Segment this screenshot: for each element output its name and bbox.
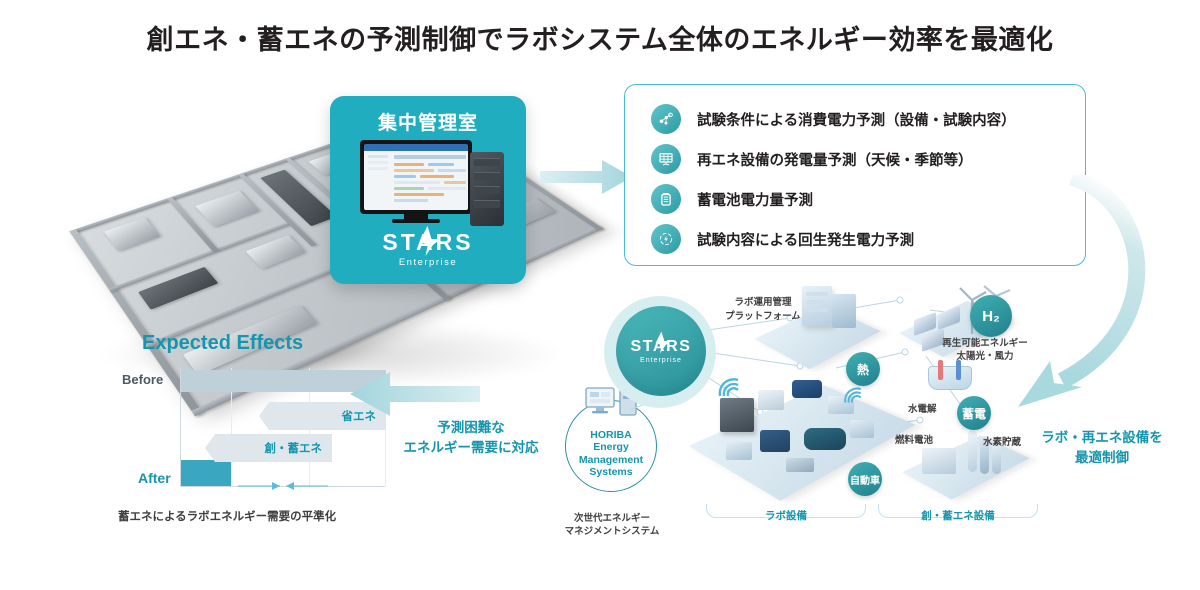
water-electrolysis-label: 水電解 — [908, 403, 937, 416]
prediction-item-label: 試験内容による回生発生電力予測 — [697, 229, 914, 250]
electrolysis-tank — [928, 366, 972, 390]
energy-equipment-bracket-label: 創・蓄エネ設備 — [878, 508, 1038, 523]
vehicle-pill: 自動車 — [848, 462, 882, 496]
vehicle — [804, 428, 846, 450]
hydrogen-pill: H₂ — [970, 295, 1012, 337]
chart-range-arrow-icon — [238, 480, 328, 492]
ems-line-2: Energy — [566, 441, 656, 453]
stars-hub-circle: STARS Enterprise — [616, 306, 706, 396]
chart-label-before: Before — [122, 372, 163, 387]
lab-equipment-bracket-label: ラボ設備 — [706, 508, 866, 523]
lab-rack — [720, 398, 754, 432]
office-window-row — [806, 308, 828, 312]
page-title: 創エネ・蓄エネの予測制御でラボシステム全体のエネルギー効率を最適化 — [0, 18, 1200, 57]
regeneration-icon — [651, 224, 681, 254]
prediction-item-label: 試験条件による消費電力予測（設備・試験内容） — [697, 109, 1016, 130]
hub-logo-sub: Enterprise — [616, 357, 706, 364]
monitor-base — [392, 219, 440, 223]
ems-line-4: Systems — [566, 466, 656, 478]
storage-pill: 蓄電 — [957, 396, 991, 430]
test-rig — [760, 430, 790, 452]
prediction-item-power-consumption: 試験条件による消費電力予測（設備・試験内容） — [651, 99, 1085, 139]
diagram-canvas: 創エネ・蓄エネの予測制御でラボシステム全体のエネルギー効率を最適化 — [0, 0, 1200, 590]
mid-callout-text: 予測困難な エネルギー需要に対応 — [378, 418, 564, 457]
lab-bench — [786, 458, 814, 472]
heat-pill: 熱 — [846, 352, 880, 386]
chart-bar-after — [181, 460, 231, 486]
chart-callout-generation-storage: 創・蓄エネ — [205, 434, 332, 462]
mid-callout-line2: エネルギー需要に対応 — [378, 438, 564, 458]
hydrogen-tank — [968, 430, 977, 472]
lab-bench — [850, 420, 874, 438]
expected-effects-caption: 蓄エネによるラボエネルギー需要の平準化 — [118, 508, 418, 524]
mid-callout-line1: 予測困難な — [378, 418, 564, 438]
expected-effects-title: Expected Effects — [142, 332, 303, 355]
ems-line-3: Management — [566, 454, 656, 466]
stars-logo-sub: Enterprise — [330, 257, 526, 268]
dyno-machine — [792, 380, 822, 398]
office-window-row — [806, 292, 828, 296]
arrow-right-icon — [540, 160, 632, 194]
arrow-left-icon — [350, 372, 480, 416]
network-nodes-icon — [651, 104, 681, 134]
monitor-screen — [364, 144, 468, 210]
lab-bench — [726, 442, 752, 460]
control-room-title: 集中管理室 — [330, 108, 526, 135]
server-tower-icon — [470, 152, 504, 226]
prediction-item-renewable-generation: 再エネ設備の発電量予測（天候・季節等） — [651, 139, 1085, 179]
monitor-icon — [360, 140, 472, 214]
hydrogen-storage-label: 水素貯蔵 — [983, 436, 1021, 449]
lab-bench — [758, 390, 784, 410]
chart-label-after: After — [138, 470, 171, 486]
expected-effects-chart: Expected Effects Before After 省エネ 創・蓄エネ … — [60, 332, 380, 532]
fuel-cell-unit — [922, 448, 956, 474]
solar-panel-icon — [651, 144, 681, 174]
control-room-card: 集中管理室 — [330, 96, 526, 284]
wifi-icon — [716, 374, 742, 400]
fuel-cell-label: 燃料電池 — [895, 434, 933, 447]
office-building-annex — [832, 294, 856, 328]
prediction-item-label: 再エネ設備の発電量予測（天候・季節等） — [697, 149, 973, 170]
battery-icon — [651, 184, 681, 214]
prediction-item-label: 蓄電池電力量予測 — [697, 189, 813, 210]
isometric-network-scene — [700, 280, 1100, 540]
horiba-ems-caption: 次世代エネルギー マネジメントシステム — [556, 512, 668, 539]
star-icon — [652, 331, 671, 354]
renewable-energy-label: 再生可能エネルギー 太陽光・風力 — [930, 337, 1040, 364]
stars-enterprise-logo: STARS Enterprise — [330, 231, 526, 268]
renewable-energy-label-line2: 太陽光・風力 — [930, 350, 1040, 363]
star-icon — [414, 226, 440, 256]
horiba-ems-circle: HORIBA Energy Management Systems — [565, 400, 657, 492]
wifi-icon — [842, 384, 864, 406]
ems-caption-line1: 次世代エネルギー — [556, 512, 668, 525]
ems-line-1: HORIBA — [566, 429, 656, 441]
office-window-row — [806, 300, 828, 304]
renewable-energy-label-line1: 再生可能エネルギー — [930, 337, 1040, 350]
ems-caption-line2: マネジメントシステム — [556, 525, 668, 538]
hub-logo-word: STARS — [616, 338, 706, 356]
